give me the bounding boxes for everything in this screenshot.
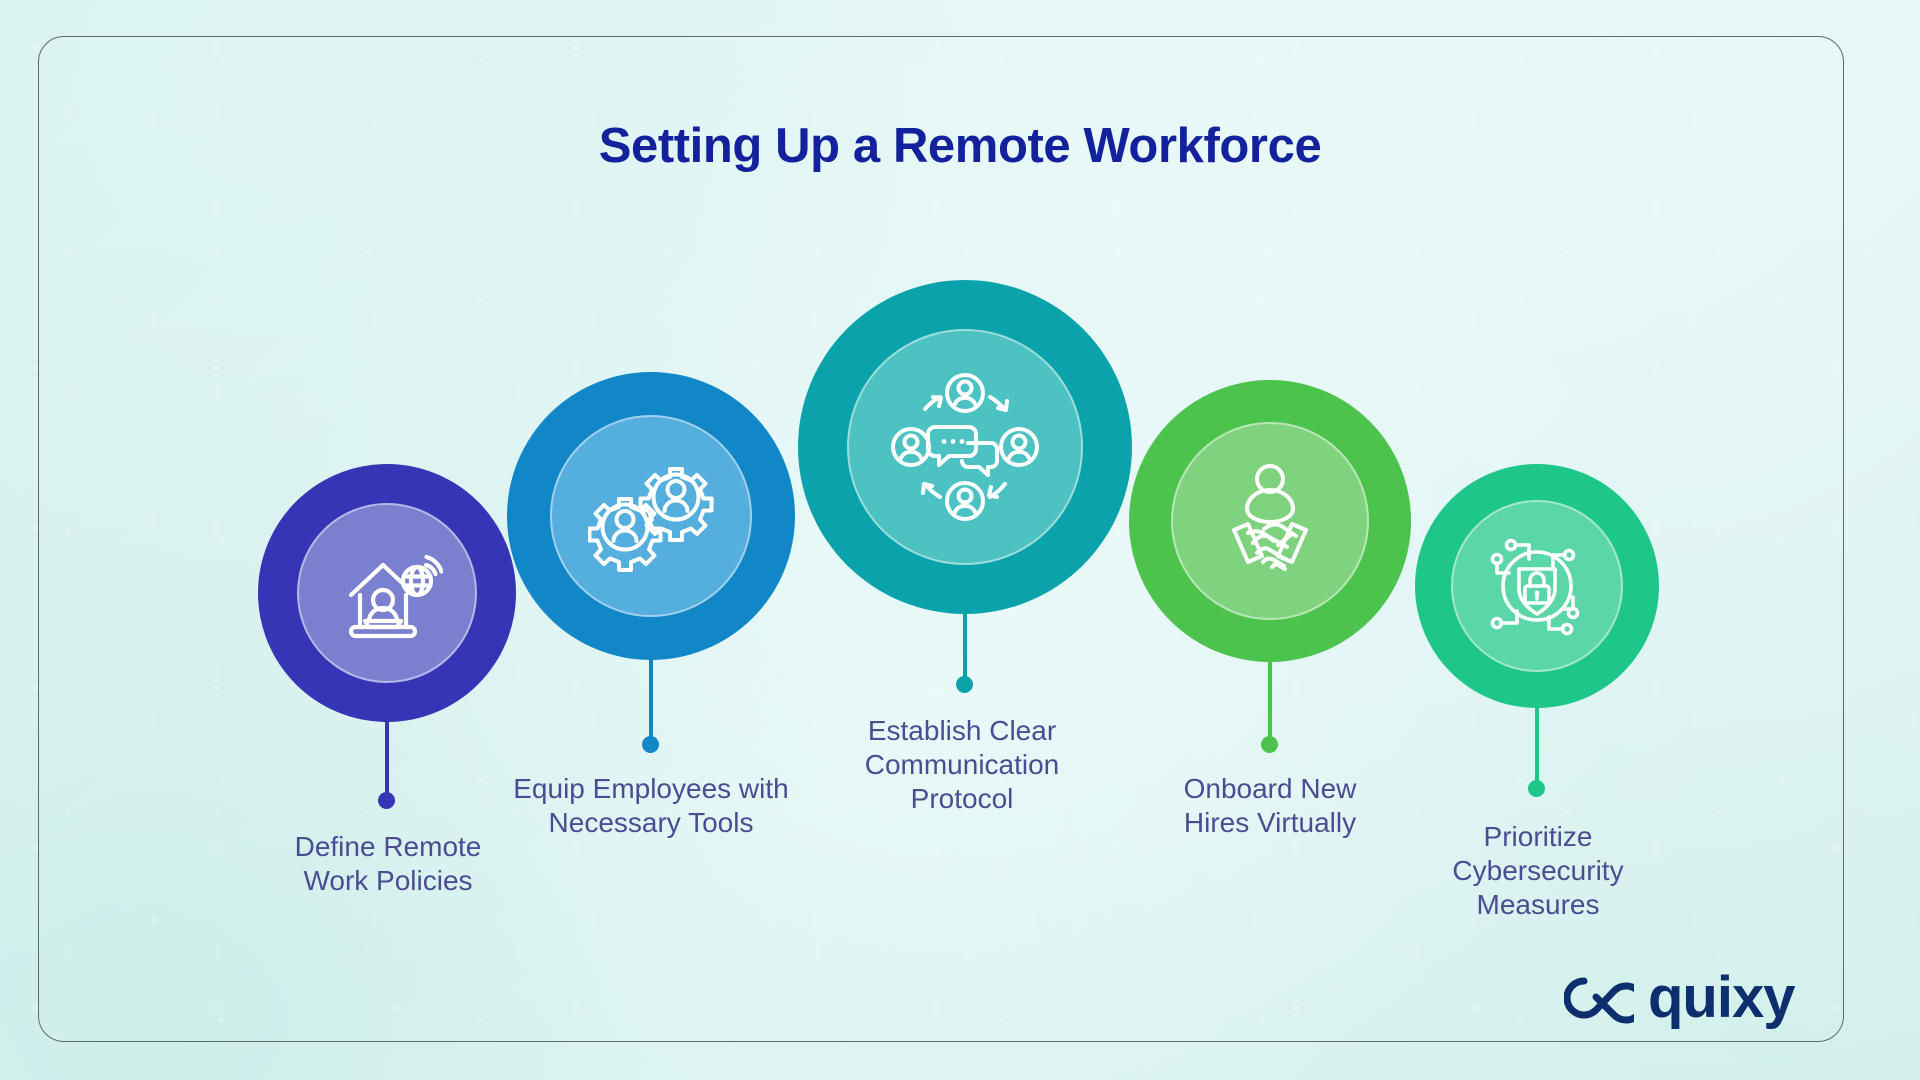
- step-connector-5: [1535, 706, 1539, 786]
- quixy-logo[interactable]: quixy: [1564, 972, 1795, 1024]
- page-title: Setting Up a Remote Workforce: [0, 118, 1920, 174]
- step-dot-5: [1528, 780, 1545, 797]
- step-connector-4: [1268, 660, 1272, 743]
- infographic-canvas: Setting Up a Remote Workforce: [0, 0, 1920, 1080]
- step-circle-outer-5[interactable]: [1415, 464, 1659, 708]
- step-circle-inner-3: [847, 329, 1083, 565]
- step-circle-outer-2[interactable]: [507, 372, 795, 660]
- quixy-wordmark: quixy: [1648, 972, 1795, 1024]
- team-communication-icon: [889, 371, 1041, 523]
- step-circle-inner-5: [1451, 500, 1623, 672]
- step-label-1: Define Remote Work Policies: [228, 830, 548, 898]
- step-circle-outer-3[interactable]: [798, 280, 1132, 614]
- step-circle-inner-4: [1171, 422, 1369, 620]
- step-circle-outer-4[interactable]: [1129, 380, 1411, 662]
- home-office-wifi-icon: [331, 537, 443, 649]
- step-label-2: Equip Employees with Necessary Tools: [481, 772, 821, 840]
- step-label-3: Establish Clear Communication Protocol: [812, 714, 1112, 816]
- shield-lock-circuit-icon: [1479, 529, 1595, 643]
- step-dot-2: [642, 736, 659, 753]
- step-circle-outer-1[interactable]: [258, 464, 516, 722]
- step-dot-3: [956, 676, 973, 693]
- step-connector-1: [385, 718, 389, 798]
- step-label-5: Prioritize Cybersecurity Measures: [1388, 820, 1688, 922]
- step-connector-2: [649, 658, 653, 743]
- step-connector-3: [963, 610, 967, 682]
- step-dot-4: [1261, 736, 1278, 753]
- step-dot-1: [378, 792, 395, 809]
- step-label-4: Onboard New Hires Virtually: [1110, 772, 1430, 840]
- step-circle-inner-1: [297, 503, 477, 683]
- infinity-loop-logo: [1564, 972, 1634, 1024]
- handshake-person-icon: [1208, 461, 1332, 581]
- step-circle-inner-2: [550, 415, 752, 617]
- gears-people-icon: [588, 457, 714, 575]
